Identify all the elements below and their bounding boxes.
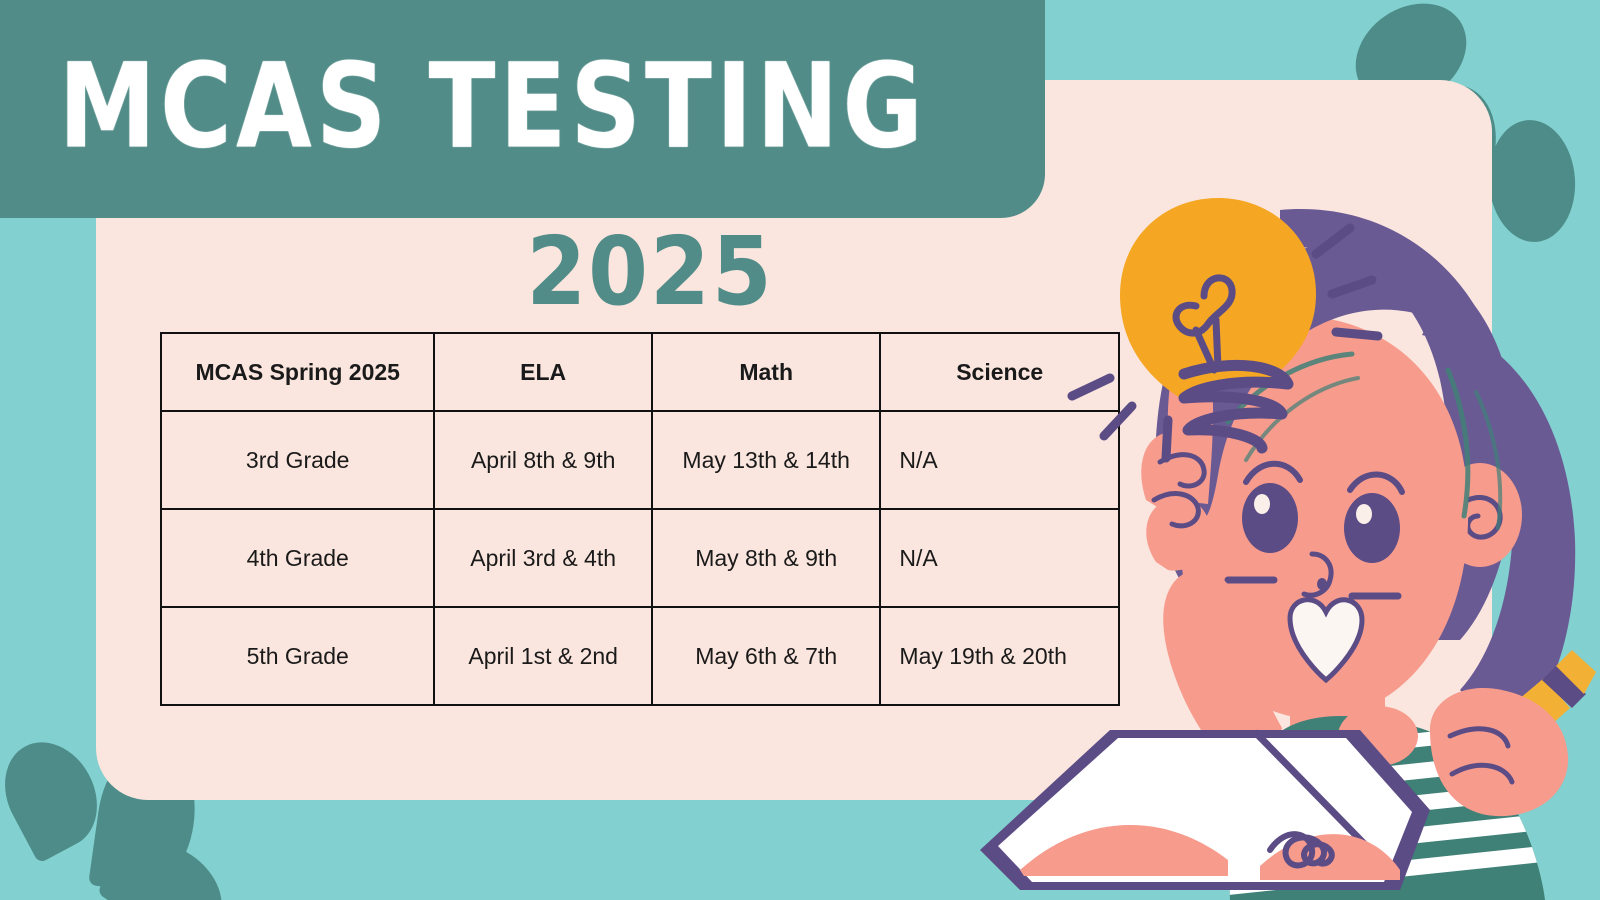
cell-math: May 8th & 9th [652, 509, 880, 607]
column-header-grade: MCAS Spring 2025 [161, 333, 434, 411]
column-header-ela: ELA [434, 333, 652, 411]
cell-science: May 19th & 20th [880, 607, 1119, 705]
cell-ela: April 8th & 9th [434, 411, 652, 509]
subtitle-year: 2025 [300, 217, 1000, 327]
title-banner: MCAS TESTING [0, 0, 1045, 218]
table-row: 5th Grade April 1st & 2nd May 6th & 7th … [161, 607, 1119, 705]
cell-grade: 4th Grade [161, 509, 434, 607]
cell-math: May 6th & 7th [652, 607, 880, 705]
leaf-top-right-3 [1485, 117, 1579, 245]
column-header-science: Science [880, 333, 1119, 411]
cell-science: N/A [880, 509, 1119, 607]
pencil [1496, 650, 1596, 760]
page-title: MCAS TESTING [58, 38, 926, 175]
column-header-math: Math [652, 333, 880, 411]
cell-science: N/A [880, 411, 1119, 509]
poster-canvas: MCAS TESTING 2025 MCAS Spring 2025 ELA M… [0, 0, 1600, 900]
cell-ela: April 1st & 2nd [434, 607, 652, 705]
table-row: 3rd Grade April 8th & 9th May 13th & 14t… [161, 411, 1119, 509]
testing-schedule-table: MCAS Spring 2025 ELA Math Science 3rd Gr… [160, 332, 1120, 706]
table-row: 4th Grade April 3rd & 4th May 8th & 9th … [161, 509, 1119, 607]
cell-ela: April 3rd & 4th [434, 509, 652, 607]
cell-math: May 13th & 14th [652, 411, 880, 509]
cell-grade: 5th Grade [161, 607, 434, 705]
cell-grade: 3rd Grade [161, 411, 434, 509]
table-header-row: MCAS Spring 2025 ELA Math Science [161, 333, 1119, 411]
